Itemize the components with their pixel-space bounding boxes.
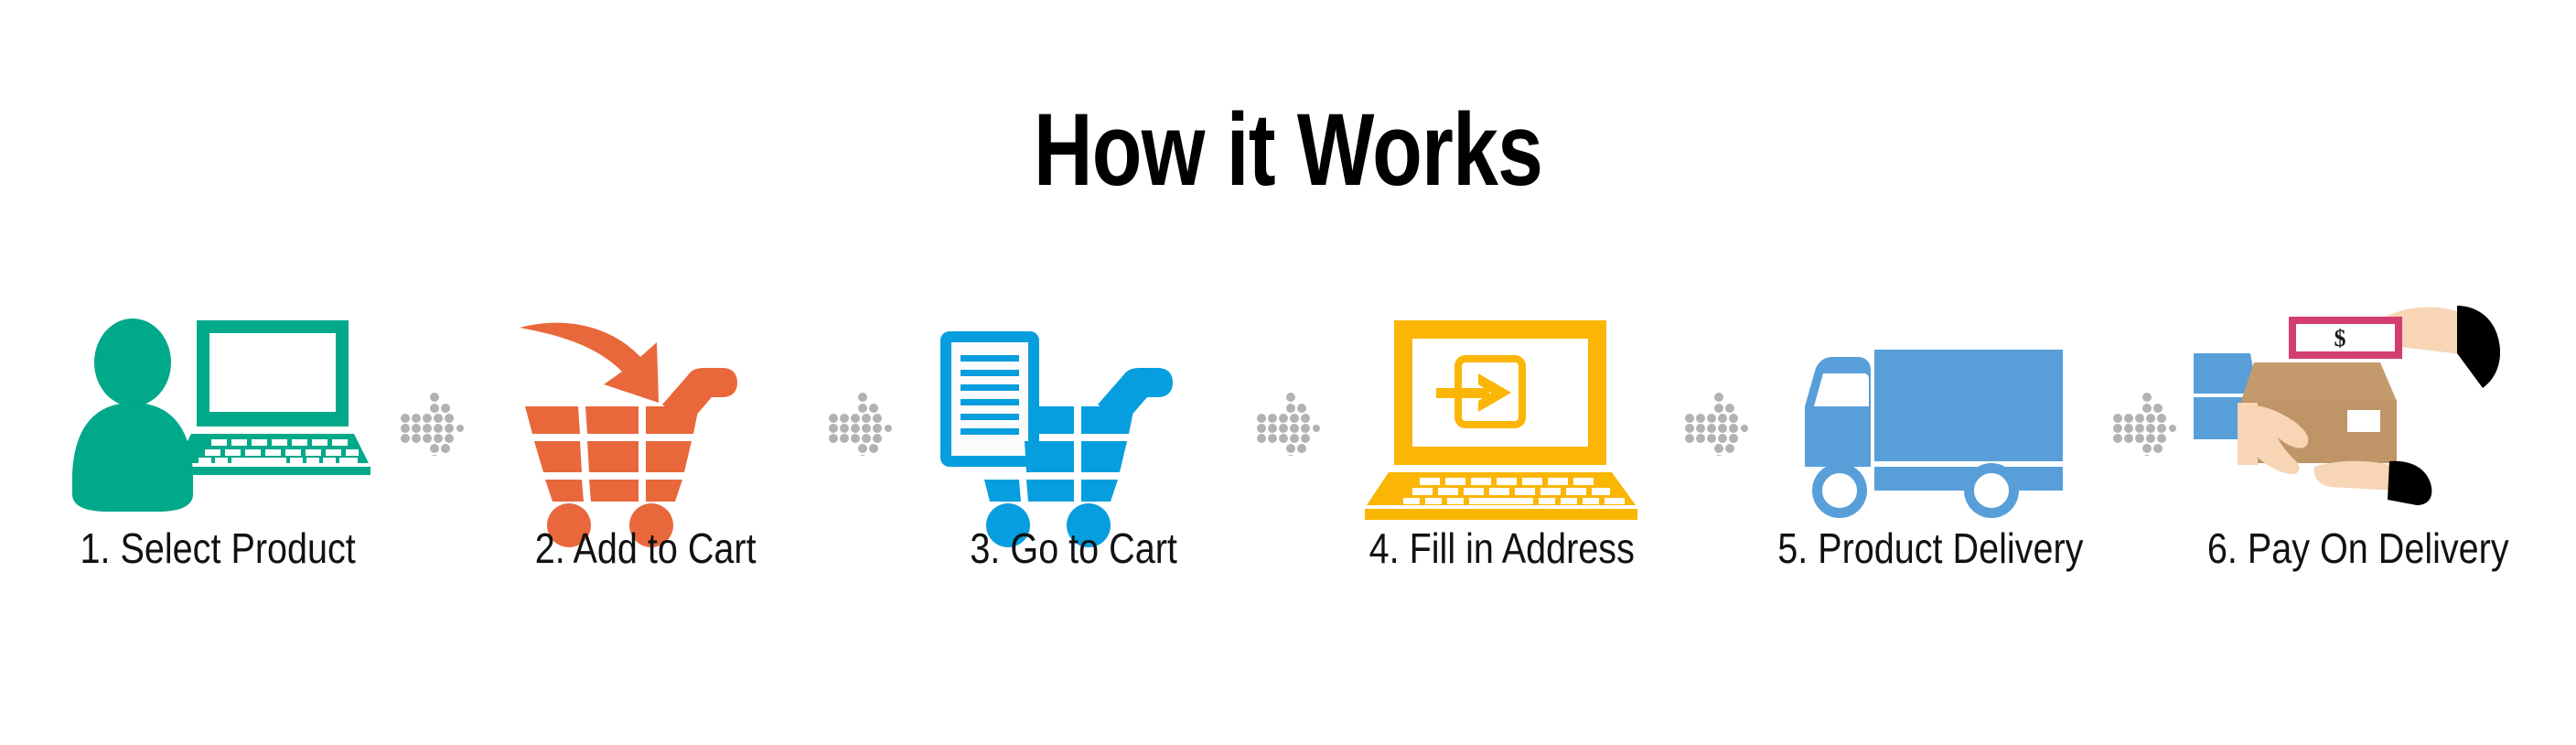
connector-2 <box>824 302 896 604</box>
hands-exchanging-box-and-money-icon: $ <box>2180 302 2537 513</box>
dotted-arrow-right-icon <box>1684 392 1748 460</box>
person-with-laptop-icon <box>39 302 396 513</box>
step-4-label: 4. Fill in Address <box>1369 525 1635 571</box>
step-3-go-to-cart[interactable]: 3. Go to Cart <box>896 302 1252 604</box>
connector-3 <box>1252 302 1324 604</box>
connector-5 <box>2109 302 2180 604</box>
connector-4 <box>1680 302 1752 604</box>
document-and-cart-icon <box>896 302 1252 513</box>
dotted-arrow-right-icon <box>1256 392 1320 460</box>
steps-row: 1. Select Product <box>0 302 2576 604</box>
laptop-with-login-arrow-icon <box>1324 302 1680 513</box>
step-5-label: 5. Product Delivery <box>1777 525 2083 571</box>
dotted-arrow-right-icon <box>400 392 464 460</box>
step-1-label: 1. Select Product <box>80 525 355 571</box>
step-6-pay-on-delivery[interactable]: $ 6. Pay On D <box>2180 302 2537 604</box>
dotted-arrow-right-icon <box>2112 392 2176 460</box>
step-2-label: 2. Add to Cart <box>535 525 757 571</box>
step-1-select-product[interactable]: 1. Select Product <box>39 302 396 604</box>
delivery-truck-icon <box>1752 302 2109 513</box>
step-2-add-to-cart[interactable]: 2. Add to Cart <box>467 302 824 604</box>
connector-1 <box>396 302 467 604</box>
step-3-label: 3. Go to Cart <box>971 525 1177 571</box>
page-title: How it Works <box>258 99 2319 201</box>
step-5-product-delivery[interactable]: 5. Product Delivery <box>1752 302 2109 604</box>
step-6-label: 6. Pay On Delivery <box>2207 525 2509 571</box>
dotted-arrow-right-icon <box>828 392 892 460</box>
step-4-fill-in-address[interactable]: 4. Fill in Address <box>1324 302 1680 604</box>
svg-text:$: $ <box>2334 325 2346 351</box>
how-it-works-infographic: How it Works <box>0 0 2576 745</box>
shopping-cart-with-arrow-icon <box>467 302 824 513</box>
